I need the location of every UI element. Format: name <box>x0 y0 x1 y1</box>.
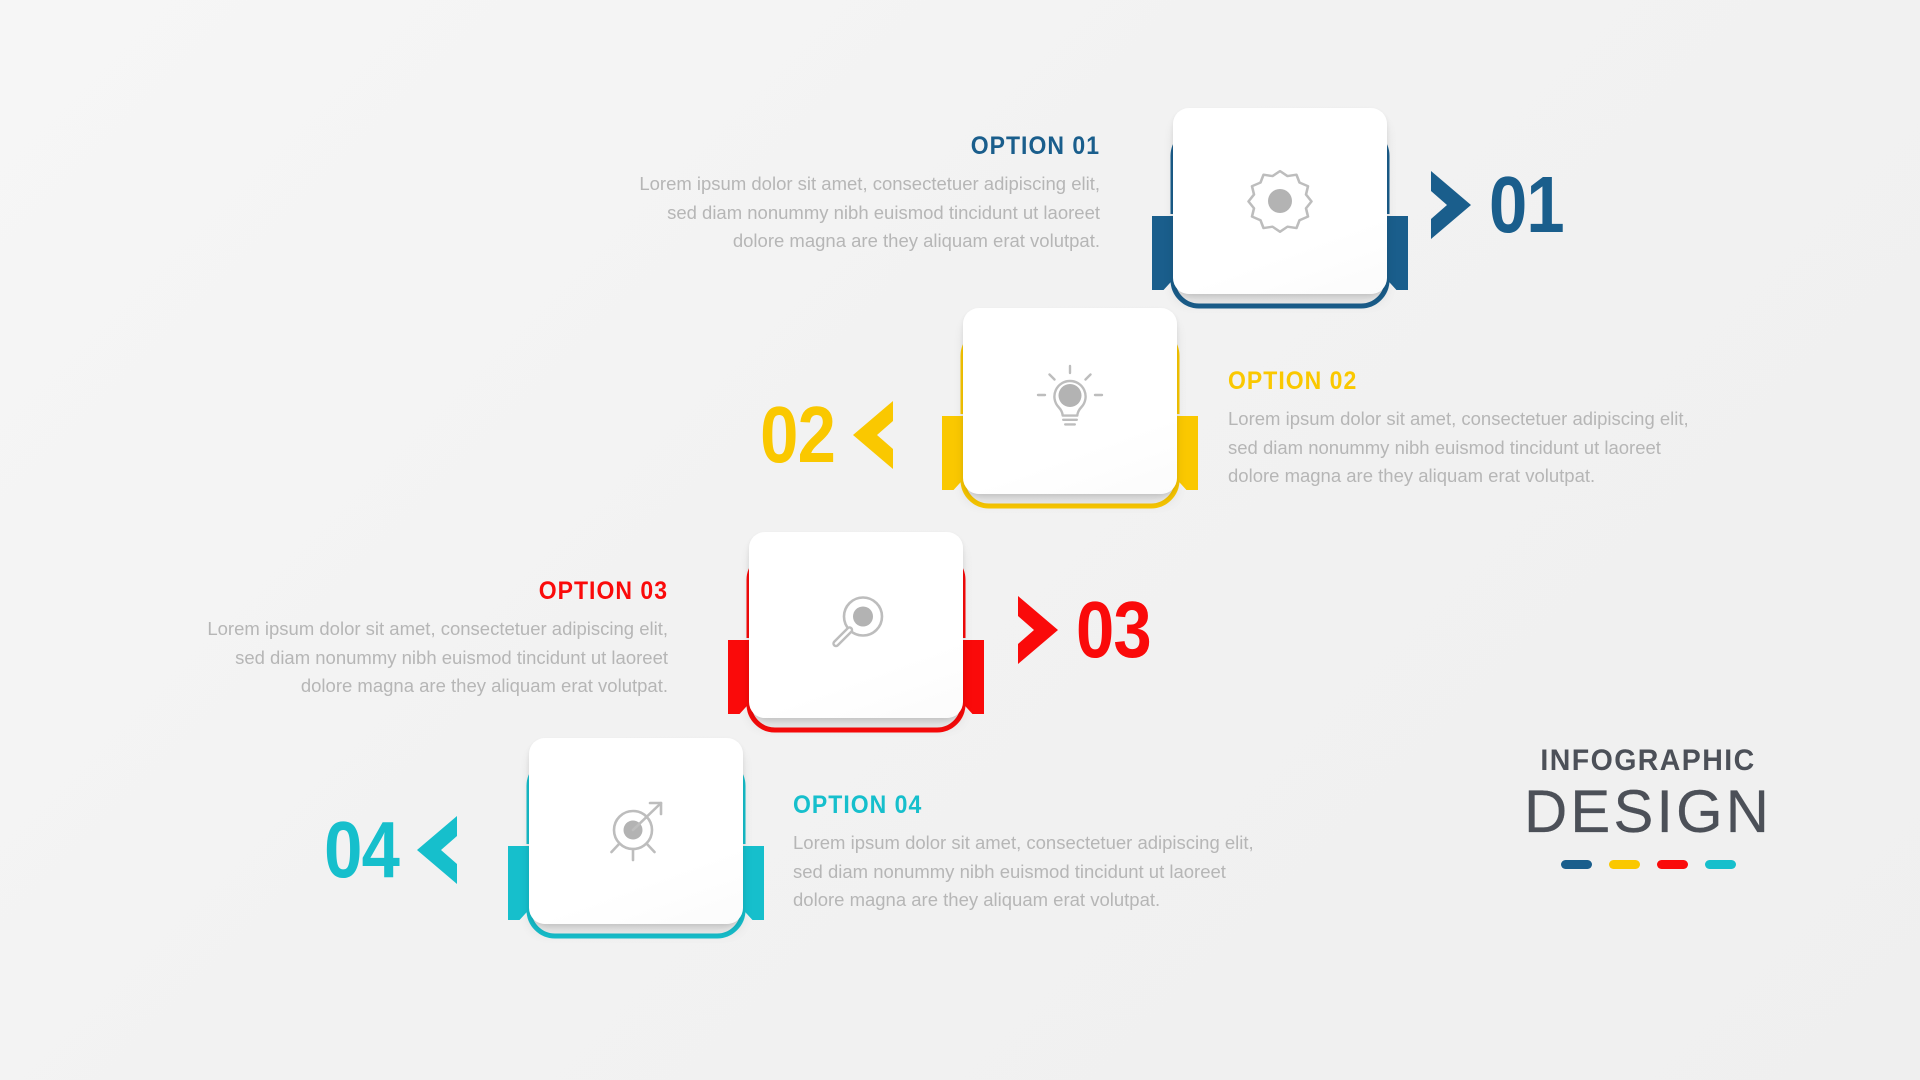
gear-icon <box>1243 164 1317 238</box>
step-04-number: 04 <box>324 811 399 889</box>
step-01-icon-card[interactable] <box>1173 108 1387 294</box>
step-02-card[interactable] <box>942 320 1198 516</box>
chevron-left-icon <box>409 812 463 888</box>
step-01-number: 01 <box>1489 166 1564 244</box>
logo-color-dashes <box>1518 860 1778 869</box>
logo-line-infographic: INFOGRAPHIC <box>1525 744 1772 778</box>
step-01-body: Lorem ipsum dolor sit amet, consectetuer… <box>630 170 1100 256</box>
chevron-left-icon <box>845 397 899 473</box>
step-02-right-bar <box>1177 416 1198 490</box>
step-04-text-block: OPTION 04 Lorem ipsum dolor sit amet, co… <box>793 791 1263 915</box>
step-03-right-bar <box>963 640 984 714</box>
step-01-title: OPTION 01 <box>668 132 1100 161</box>
step-02-number: 02 <box>760 396 835 474</box>
step-03-body: Lorem ipsum dolor sit amet, consectetuer… <box>198 615 668 701</box>
step-02-icon-card[interactable] <box>963 308 1177 494</box>
step-01-number-group: 01 <box>1425 160 1576 250</box>
step-04-left-bar <box>508 846 529 920</box>
dash-blue <box>1561 860 1592 869</box>
step-02-title: OPTION 02 <box>1228 367 1660 396</box>
step-02-number-group: 02 <box>748 390 899 480</box>
step-02-left-bar <box>942 416 963 490</box>
step-03-card[interactable] <box>728 544 984 740</box>
step-02-text-block: OPTION 02 Lorem ipsum dolor sit amet, co… <box>1228 367 1698 491</box>
step-03-text-block: OPTION 03 Lorem ipsum dolor sit amet, co… <box>198 577 668 701</box>
lightbulb-icon <box>1033 362 1107 440</box>
dash-yellow <box>1609 860 1640 869</box>
step-01-left-bar <box>1152 216 1173 290</box>
magnifier-icon <box>819 588 893 662</box>
target-arrow-icon <box>599 794 673 868</box>
step-03-number: 03 <box>1076 591 1151 669</box>
infographic-canvas: OPTION 01 Lorem ipsum dolor sit amet, co… <box>0 0 1920 1080</box>
step-04-number-group: 04 <box>312 805 463 895</box>
step-03-left-bar <box>728 640 749 714</box>
step-04-right-bar <box>743 846 764 920</box>
step-04-icon-card[interactable] <box>529 738 743 924</box>
chevron-right-icon <box>1012 592 1066 668</box>
step-04-card[interactable] <box>508 750 764 946</box>
step-02-body: Lorem ipsum dolor sit amet, consectetuer… <box>1228 405 1698 491</box>
step-01-right-bar <box>1387 216 1408 290</box>
logo-line-design: DESIGN <box>1518 780 1778 844</box>
step-03-number-group: 03 <box>1012 585 1163 675</box>
step-03-title: OPTION 03 <box>236 577 668 606</box>
dash-red <box>1657 860 1688 869</box>
step-03-icon-card[interactable] <box>749 532 963 718</box>
chevron-right-icon <box>1425 167 1479 243</box>
step-01-card[interactable] <box>1152 120 1408 316</box>
step-01-text-block: OPTION 01 Lorem ipsum dolor sit amet, co… <box>630 132 1100 256</box>
logo-block: INFOGRAPHIC DESIGN <box>1518 744 1778 869</box>
step-04-title: OPTION 04 <box>793 791 1225 820</box>
step-04-body: Lorem ipsum dolor sit amet, consectetuer… <box>793 829 1263 915</box>
dash-cyan <box>1705 860 1736 869</box>
